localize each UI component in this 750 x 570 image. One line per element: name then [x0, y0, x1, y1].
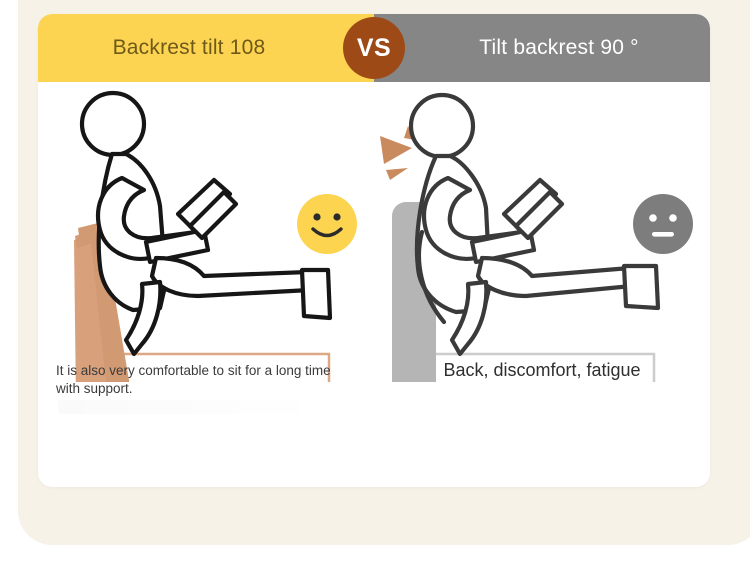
header-right-section: Tilt backrest 90 ° [374, 14, 710, 82]
right-comparison-panel: Back, discomfort, fatigue [374, 82, 710, 487]
caption-watermark [58, 400, 328, 414]
comparison-page: Backrest tilt 108 Tilt backrest 90 ° VS [0, 0, 750, 570]
smiley-face-icon [295, 192, 359, 256]
comparison-card: Backrest tilt 108 Tilt backrest 90 ° VS [38, 14, 710, 487]
header-left-section: Backrest tilt 108 [38, 14, 374, 82]
vs-badge: VS [343, 17, 405, 79]
comparison-body: It is also very comfortable to sit for a… [38, 82, 710, 487]
reclined-person-figure [82, 93, 330, 354]
left-comparison-panel: It is also very comfortable to sit for a… [38, 82, 374, 487]
right-panel-caption: Back, discomfort, fatigue [374, 360, 710, 381]
comparison-header: Backrest tilt 108 Tilt backrest 90 ° VS [38, 14, 710, 82]
neutral-face-icon [631, 192, 695, 256]
header-left-label: Backrest tilt 108 [113, 36, 300, 60]
header-right-label: Tilt backrest 90 ° [445, 36, 638, 60]
left-panel-caption: It is also very comfortable to sit for a… [56, 362, 336, 398]
upright-person-figure [411, 95, 658, 354]
